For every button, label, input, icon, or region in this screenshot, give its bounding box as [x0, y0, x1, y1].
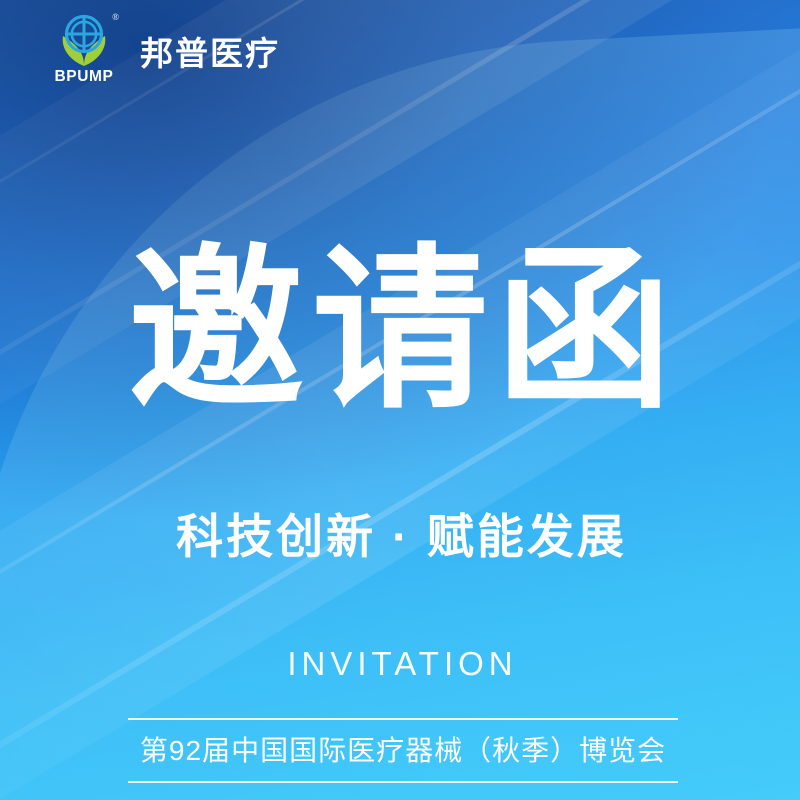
subtitle-slogan: 科技创新 · 赋能发展 — [0, 508, 800, 567]
footer-rule-bottom — [128, 781, 678, 783]
invitation-english-label: INVITATION — [0, 647, 800, 680]
logo-artwork: ® — [53, 14, 115, 68]
footer-event-name: 第92届中国国际医疗器械（秋季）博览会 — [128, 720, 678, 781]
footer-block: 第92届中国国际医疗器械（秋季）博览会 — [128, 718, 678, 783]
invitation-poster: ® BPUMP 邦普医疗 邀请函 科技创新 · 赋能发展 INVITATION … — [0, 0, 800, 800]
company-logo: ® BPUMP — [46, 14, 122, 90]
headline-title: 邀请函 — [0, 243, 800, 419]
brand-name-cn: 邦普医疗 — [140, 37, 280, 70]
brand-lockup: ® BPUMP 邦普医疗 — [46, 14, 280, 90]
registered-trademark-symbol: ® — [112, 13, 119, 22]
circle-grid-emblem-icon — [67, 17, 102, 52]
logo-wordmark: BPUMP — [55, 69, 114, 85]
